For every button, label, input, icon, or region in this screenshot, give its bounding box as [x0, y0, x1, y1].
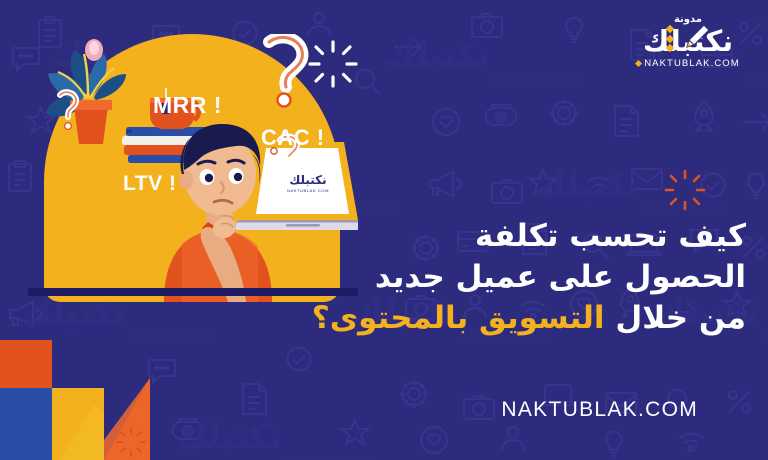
logo-accent-dots: [664, 24, 676, 54]
potted-plant-icon: [46, 39, 126, 144]
headline-line-1: كيف تحسب تكلفة: [354, 216, 746, 257]
callout-mrr: MRR !: [153, 92, 222, 119]
thinking-person-illustration: نكتبلك NAKTUBLAK.COM: [22, 34, 358, 302]
headline-line-3: من خلال التسويق بالمحتوى؟: [354, 298, 746, 339]
question-mark-large-icon: [269, 37, 302, 106]
brand-logo[interactable]: مدونة نكتبلك NAKTUBLAK.COM: [624, 14, 752, 80]
sparkle-icon-orange-right: [662, 168, 708, 212]
callout-cac: CAC !: [261, 125, 325, 151]
logo-domain: NAKTUBLAK.COM: [624, 58, 752, 70]
orange-square: [0, 340, 52, 388]
headline: كيف تحسب تكلفة الحصول على عميل جديد من خ…: [354, 216, 746, 339]
illustration-stage: نكتبلك NAKTUBLAK.COM: [22, 34, 352, 286]
site-url[interactable]: NAKTUBLAK.COM: [501, 398, 698, 422]
headline-line-3-white: من خلال: [605, 300, 746, 336]
banner-canvas: نكتبلك NAKTUBLAK.COM: [0, 0, 768, 460]
svg-text:نكتبلك: نكتبلك: [289, 173, 326, 187]
logo-domain-text: NAKTUBLAK.COM: [644, 58, 740, 69]
headline-line-2: الحصول على عميل جديد: [354, 257, 746, 298]
svg-text:NAKTUBLAK.COM: NAKTUBLAK.COM: [287, 188, 329, 193]
pencil-icon: [680, 20, 714, 54]
sparkle-icon-orange-bottom: [114, 426, 148, 458]
blue-square: [0, 388, 52, 460]
headline-line-3-accent: التسويق بالمحتوى؟: [312, 300, 605, 336]
diamond-icon: [635, 60, 642, 67]
callout-ltv: LTV !: [123, 172, 176, 196]
laptop-screen-logo: نكتبلك NAKTUBLAK.COM: [287, 173, 329, 193]
desk-surface: [28, 288, 358, 296]
